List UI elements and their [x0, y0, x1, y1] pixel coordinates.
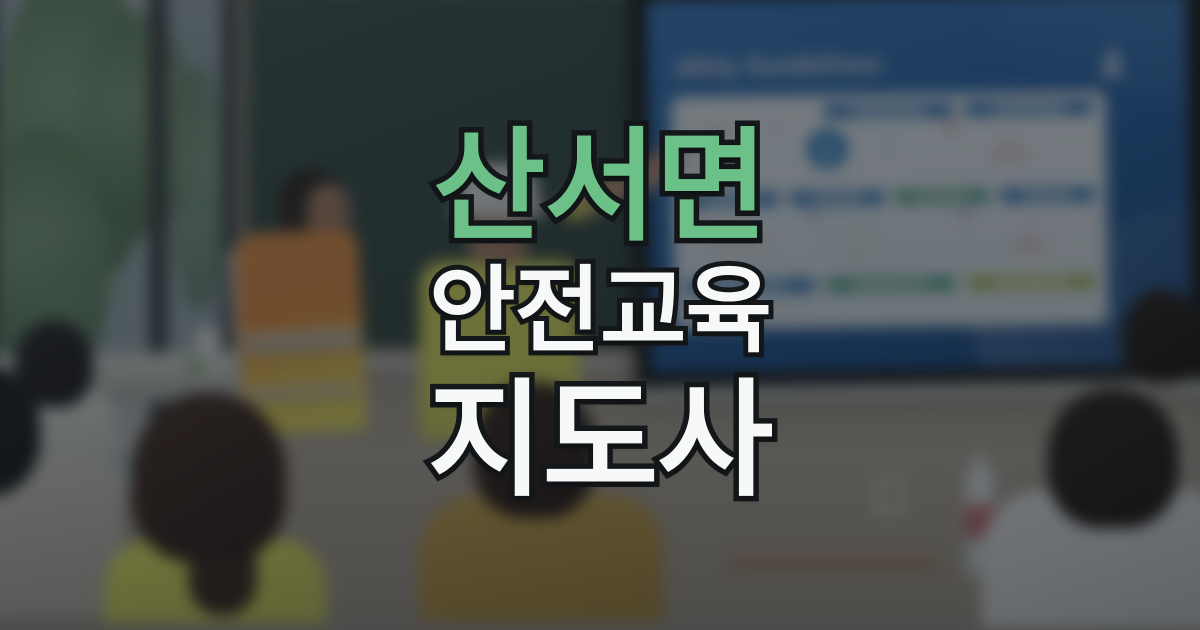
title-line-region: 산서면: [433, 126, 767, 248]
title-block: 산서면 안전교육 지도사: [0, 0, 1200, 630]
title-line-topic: 안전교육: [429, 264, 771, 358]
title-line-credential: 지도사: [428, 378, 773, 504]
thumbnail-card: afety Guidelines: [0, 0, 1200, 630]
